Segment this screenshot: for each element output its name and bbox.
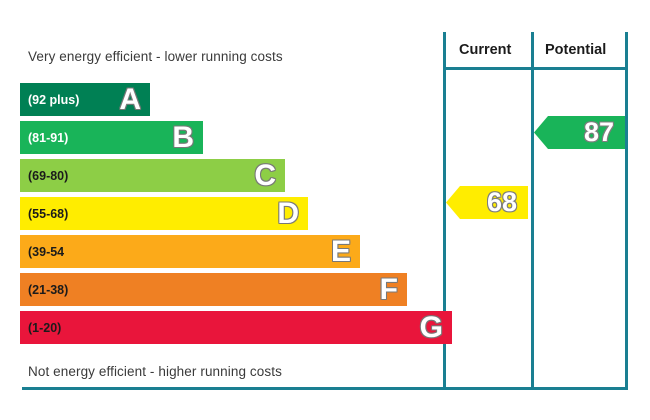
rating-band-f: (21-38)F — [20, 273, 407, 306]
rating-band-a: (92 plus)A — [20, 83, 150, 116]
band-letter-label: C — [254, 161, 276, 191]
band-range-label: (39-54 — [28, 245, 64, 259]
energy-efficiency-rating-chart: Very energy efficient - lower running co… — [0, 0, 650, 420]
band-range-label: (55-68) — [28, 207, 68, 221]
rating-band-c: (69-80)C — [20, 159, 285, 192]
chart-caption-bottom: Not energy efficient - higher running co… — [28, 364, 282, 379]
band-range-label: (81-91) — [28, 131, 68, 145]
band-letter-label: E — [331, 237, 351, 267]
rating-bands-list: (92 plus)A(81-91)B(69-80)C(55-68)D(39-54… — [20, 83, 452, 349]
rating-arrow-current: 68 — [446, 186, 528, 219]
rating-band-b: (81-91)B — [20, 121, 203, 154]
column-header-underline — [443, 67, 628, 70]
column-divider-middle — [531, 32, 534, 390]
band-letter-label: D — [277, 199, 299, 229]
rating-arrow-potential: 87 — [534, 116, 625, 149]
rating-value-current: 68 — [487, 189, 517, 216]
rating-value-potential: 87 — [584, 119, 614, 146]
rating-band-g: (1-20)G — [20, 311, 452, 344]
chart-bottom-rule — [22, 387, 628, 390]
band-letter-label: F — [380, 275, 398, 305]
column-header-potential: Potential — [545, 42, 606, 58]
rating-band-e: (39-54E — [20, 235, 360, 268]
column-divider-right — [625, 32, 628, 390]
band-letter-label: A — [119, 85, 141, 115]
chart-caption-top: Very energy efficient - lower running co… — [28, 49, 283, 64]
band-range-label: (69-80) — [28, 169, 68, 183]
band-range-label: (1-20) — [28, 321, 61, 335]
rating-band-d: (55-68)D — [20, 197, 308, 230]
band-range-label: (21-38) — [28, 283, 68, 297]
band-range-label: (92 plus) — [28, 93, 79, 107]
band-letter-label: G — [420, 313, 443, 343]
band-letter-label: B — [172, 123, 194, 153]
column-header-current: Current — [459, 42, 511, 58]
